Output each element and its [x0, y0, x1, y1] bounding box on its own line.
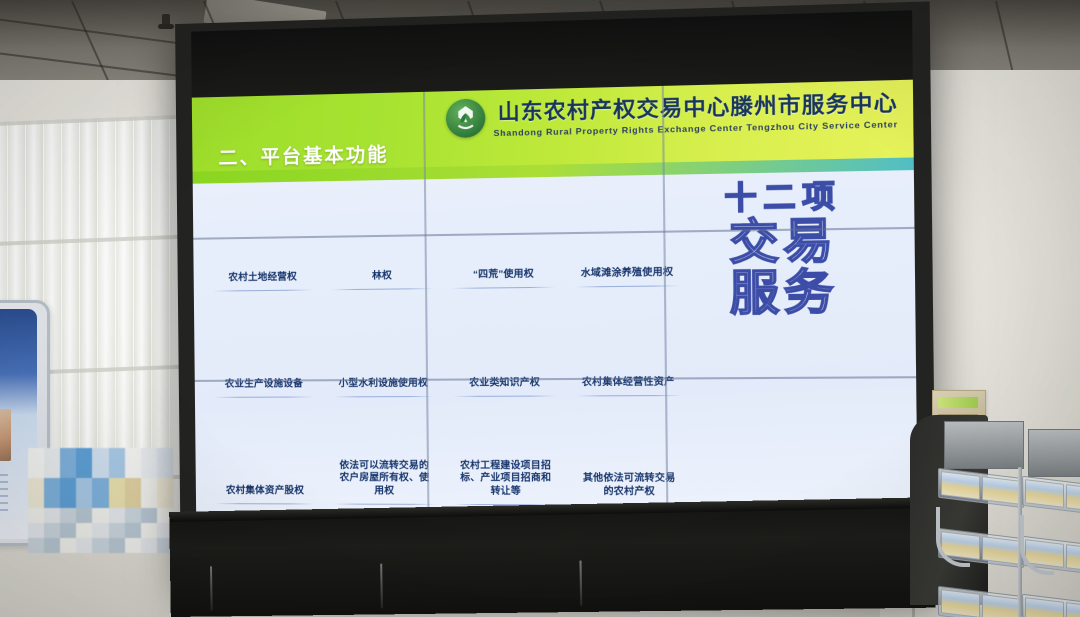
- service-item-cell: 农业生产设施设备: [204, 294, 324, 402]
- mosaic-tile: [157, 463, 173, 478]
- mosaic-tile: [109, 508, 125, 523]
- mosaic-tile: [141, 478, 157, 493]
- service-item-cell: 农村集体经营性资产: [565, 290, 691, 400]
- rack-column: [938, 421, 1026, 613]
- brochure-leaflet[interactable]: [1066, 484, 1080, 513]
- base-cabinet[interactable]: [169, 497, 935, 617]
- mosaic-tile: [141, 538, 157, 553]
- mosaic-tile: [28, 508, 44, 523]
- mosaic-tile: [125, 508, 141, 523]
- section-title: 二、平台基本功能: [218, 139, 389, 170]
- mosaic-tile: [141, 493, 157, 508]
- watermark-line-1: 十二项: [724, 182, 841, 216]
- service-item-label: 依法可以流转交易的农户房屋所有权、使用权: [335, 460, 434, 499]
- cabinet-handle[interactable]: [210, 566, 213, 610]
- mosaic-tile: [28, 523, 44, 538]
- mosaic-tile: [109, 463, 125, 478]
- video-wall-screen[interactable]: 二、平台基本功能 山东农村产权交易中心滕州市服务中心: [192, 80, 918, 522]
- brochure-leaflet[interactable]: [1025, 597, 1064, 617]
- mosaic-tile: [92, 463, 108, 478]
- mosaic-tile: [44, 478, 60, 493]
- mosaic-tile: [92, 448, 108, 463]
- mosaic-tile: [76, 538, 92, 553]
- service-item-cell: 农村集体资产股权: [205, 401, 325, 508]
- presentation-slide: 二、平台基本功能 山东农村产权交易中心滕州市服务中心: [192, 80, 918, 522]
- service-item-cell: 农业类知识产权: [443, 292, 567, 401]
- mosaic-tile: [92, 538, 108, 553]
- rack-shelf[interactable]: [938, 468, 1024, 509]
- rack-header-panel: [944, 421, 1024, 469]
- brochure-leaflet[interactable]: [1066, 602, 1080, 617]
- watermark-line-3: 服务: [729, 267, 838, 317]
- mosaic-tile: [157, 448, 173, 463]
- service-items-grid: 农村土地经营权林权“四荒”使用权水域滩涂养殖使用权农业生产设施设备小型水利设施使…: [203, 181, 692, 510]
- watermark-line-2: 交易: [729, 216, 838, 266]
- brochure-leaflet[interactable]: [982, 536, 1021, 565]
- mosaic-tile: [60, 448, 76, 463]
- brochure-leaflet[interactable]: [941, 589, 980, 617]
- room-scene: 二、平台基本功能 山东农村产权交易中心滕州市服务中心: [0, 0, 1080, 617]
- mosaic-tile: [76, 478, 92, 493]
- cabinet-handle[interactable]: [380, 564, 383, 609]
- mosaic-tile: [125, 493, 141, 508]
- mosaic-tile: [92, 508, 108, 523]
- mosaic-tile: [92, 478, 108, 493]
- rack-shelf[interactable]: [1022, 476, 1080, 517]
- mosaic-tile: [109, 478, 125, 493]
- mosaic-tile: [76, 493, 92, 508]
- brochure-leaflet[interactable]: [982, 594, 1021, 617]
- sprinkler-head-icon: [162, 14, 170, 28]
- mosaic-tile: [141, 523, 157, 538]
- mosaic-tile: [76, 508, 92, 523]
- mosaic-tile: [157, 478, 173, 493]
- mosaic-tile: [60, 478, 76, 493]
- mosaic-tile: [76, 448, 92, 463]
- mosaic-tile: [109, 523, 125, 538]
- slide-header-banner: 二、平台基本功能 山东农村产权交易中心滕州市服务中心: [192, 80, 914, 184]
- brand-block: 山东农村产权交易中心滕州市服务中心 Shandong Rural Propert…: [445, 86, 898, 139]
- rack-column: [1022, 429, 1080, 617]
- service-item-label: 农村土地经营权: [228, 272, 297, 286]
- mosaic-tile: [141, 508, 157, 523]
- service-item-label: 农村集体资产股权: [226, 485, 304, 498]
- rack-header-panel: [1028, 429, 1080, 477]
- mosaic-tile: [44, 448, 60, 463]
- service-item-cell: 水域滩涂养殖使用权: [564, 181, 690, 292]
- mosaic-tile: [92, 523, 108, 538]
- mosaic-tile: [44, 508, 60, 523]
- poster-text-lines: [0, 474, 8, 516]
- brochure-leaflet[interactable]: [982, 476, 1021, 505]
- poster-image: [0, 409, 11, 461]
- mosaic-tile: [92, 493, 108, 508]
- mosaic-tile: [28, 448, 44, 463]
- service-item-label: 农村工程建设项目招标、产业项目招商和转让等: [456, 460, 556, 499]
- service-item-cell: 农村土地经营权: [203, 187, 323, 295]
- rack-shelf[interactable]: [1022, 594, 1080, 617]
- service-item-cell: 其他依法可流转交易的农村产权: [566, 400, 692, 510]
- brochure-leaflet[interactable]: [1025, 479, 1064, 508]
- mosaic-tile: [28, 463, 44, 478]
- rack-shelf[interactable]: [938, 586, 1024, 617]
- mosaic-tile: [125, 463, 141, 478]
- mosaic-tile: [157, 493, 173, 508]
- mosaic-tile: [76, 523, 92, 538]
- mosaic-tile: [60, 538, 76, 553]
- brochure-leaflet[interactable]: [1066, 544, 1080, 573]
- mosaic-tile: [125, 448, 141, 463]
- brochure-leaflet[interactable]: [941, 471, 980, 500]
- service-item-label: 水域滩涂养殖使用权: [581, 267, 674, 281]
- slide-watermark: 十二项 交易 服务: [683, 181, 885, 318]
- mosaic-tile: [125, 478, 141, 493]
- mosaic-tile: [28, 478, 44, 493]
- censored-mosaic-block: [28, 448, 173, 553]
- service-item-label: 林权: [372, 270, 392, 283]
- service-item-cell: 农村工程建设项目招标、产业项目招商和转让等: [444, 401, 568, 510]
- mosaic-tile: [125, 538, 141, 553]
- brochure-rack[interactable]: [910, 415, 1080, 617]
- mosaic-tile: [125, 523, 141, 538]
- mosaic-tile: [60, 508, 76, 523]
- service-item-label: “四荒”使用权: [473, 269, 534, 283]
- mosaic-tile: [44, 493, 60, 508]
- mosaic-tile: [109, 448, 125, 463]
- service-item-cell: “四荒”使用权: [441, 183, 565, 293]
- mosaic-tile: [28, 538, 44, 553]
- mosaic-tile: [60, 493, 76, 508]
- mosaic-tile: [141, 448, 157, 463]
- mosaic-tile: [44, 538, 60, 553]
- mosaic-tile: [109, 493, 125, 508]
- mosaic-tile: [44, 463, 60, 478]
- mosaic-tile: [44, 523, 60, 538]
- cabinet-handle[interactable]: [579, 561, 582, 606]
- mosaic-tile: [60, 463, 76, 478]
- mosaic-tile: [60, 523, 76, 538]
- mosaic-tile: [141, 463, 157, 478]
- rice-sprout-emblem-icon: [445, 98, 485, 138]
- plaque-green-band: [938, 397, 978, 408]
- mosaic-tile: [109, 538, 125, 553]
- brand-text: 山东农村产权交易中心滕州市服务中心 Shandong Rural Propert…: [493, 86, 898, 138]
- mosaic-tile: [76, 463, 92, 478]
- mosaic-tile: [28, 493, 44, 508]
